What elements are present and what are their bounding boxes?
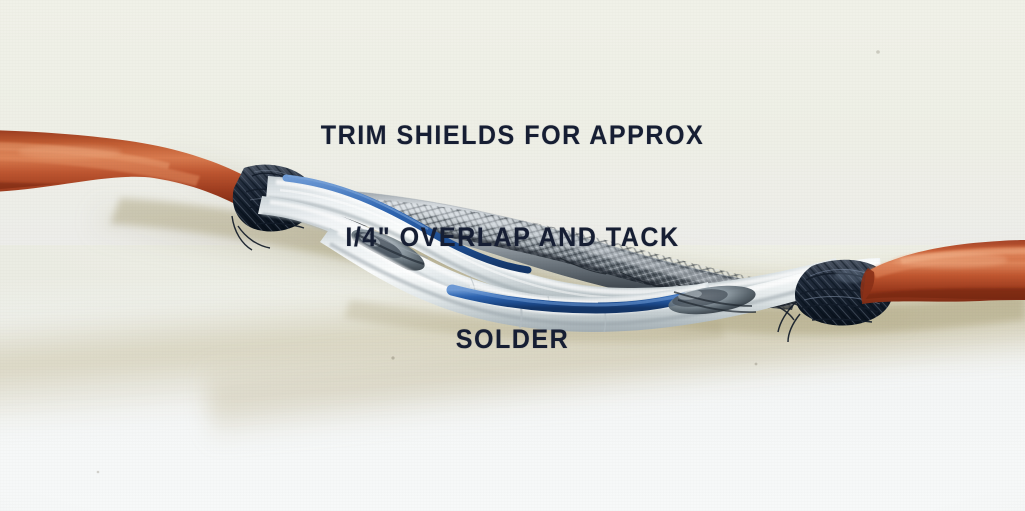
caption-line-3: SOLDER [36, 322, 989, 356]
instruction-caption: TRIM SHIELDS FOR APPROX I/4" OVERLAP AND… [36, 50, 989, 424]
instruction-photo: TRIM SHIELDS FOR APPROX I/4" OVERLAP AND… [0, 0, 1025, 511]
caption-line-2: I/4" OVERLAP AND TACK [36, 220, 989, 254]
caption-line-1: TRIM SHIELDS FOR APPROX [36, 118, 989, 152]
